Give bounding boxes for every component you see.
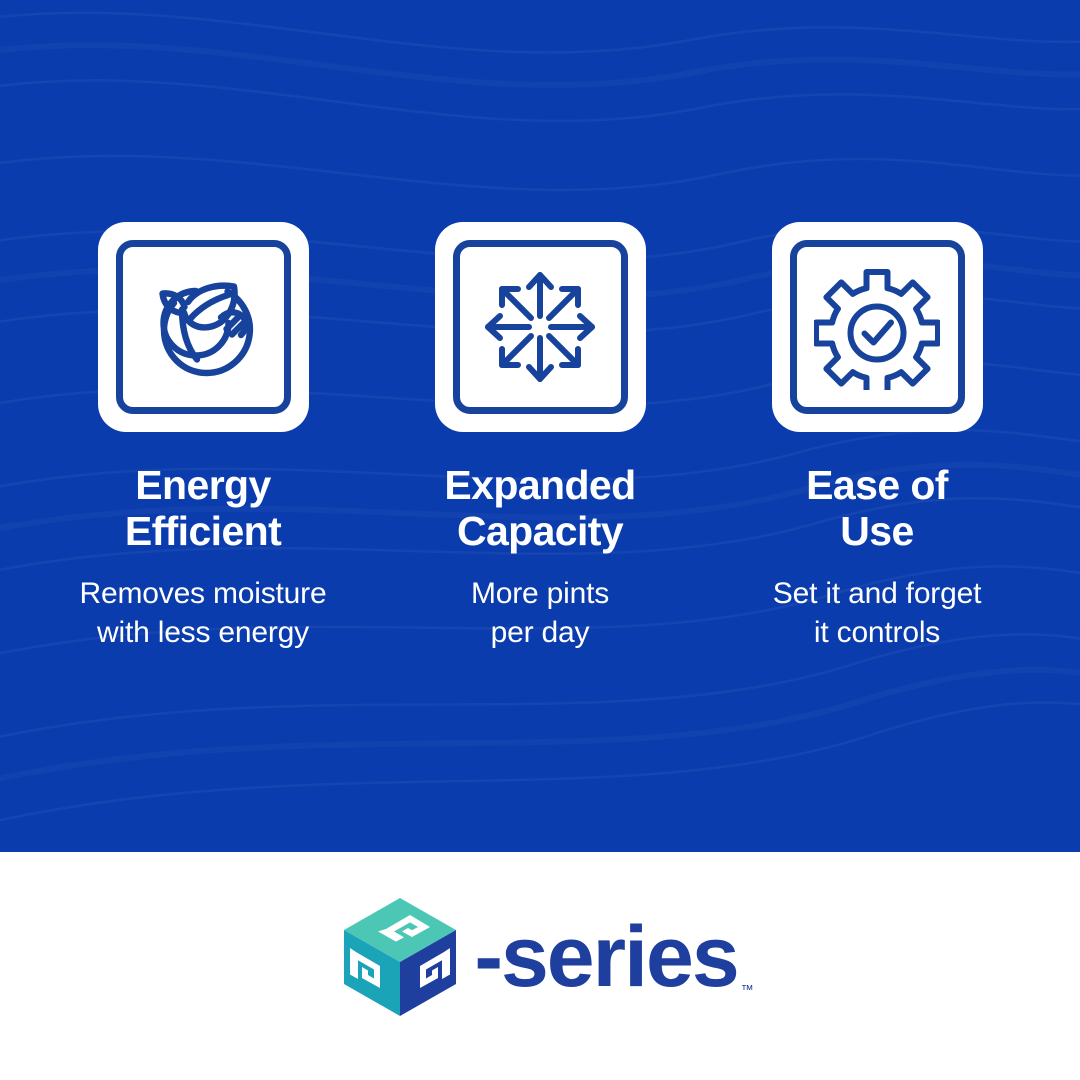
feature-title: Ease of Use [712, 462, 1042, 554]
brand-logo: -series ™ [0, 896, 1080, 1018]
trademark-symbol: ™ [741, 983, 754, 996]
feature-icon-card [772, 222, 983, 432]
feature-icon-card [435, 222, 646, 432]
e-cube-isometric-logo-icon [342, 896, 458, 1018]
logo-wordmark: -series ™ [474, 914, 737, 1000]
icon-frame [116, 240, 291, 414]
feature-energy-efficient: Energy Efficient Removes moisture with l… [98, 222, 309, 652]
leaf-globe-plug-icon [142, 266, 264, 388]
gear-check-icon [814, 264, 940, 390]
expand-arrows-icon [479, 266, 601, 388]
feature-title: Expanded Capacity [375, 462, 705, 554]
icon-frame [790, 240, 965, 414]
logo-wordmark-text: -series [474, 909, 737, 1005]
feature-list: Energy Efficient Removes moisture with l… [0, 222, 1080, 652]
feature-title: Energy Efficient [38, 462, 368, 554]
feature-expanded-capacity: Expanded Capacity More pints per day [435, 222, 646, 652]
footer-panel: -series ™ [0, 852, 1080, 1080]
icon-frame [453, 240, 628, 414]
feature-description: More pints per day [375, 574, 705, 652]
hero-panel: Energy Efficient Removes moisture with l… [0, 0, 1080, 852]
feature-ease-of-use: Ease of Use Set it and forget it control… [772, 222, 983, 652]
feature-description: Set it and forget it controls [712, 574, 1042, 652]
promo-graphic: Energy Efficient Removes moisture with l… [0, 0, 1080, 1080]
feature-icon-card [98, 222, 309, 432]
feature-description: Removes moisture with less energy [38, 574, 368, 652]
